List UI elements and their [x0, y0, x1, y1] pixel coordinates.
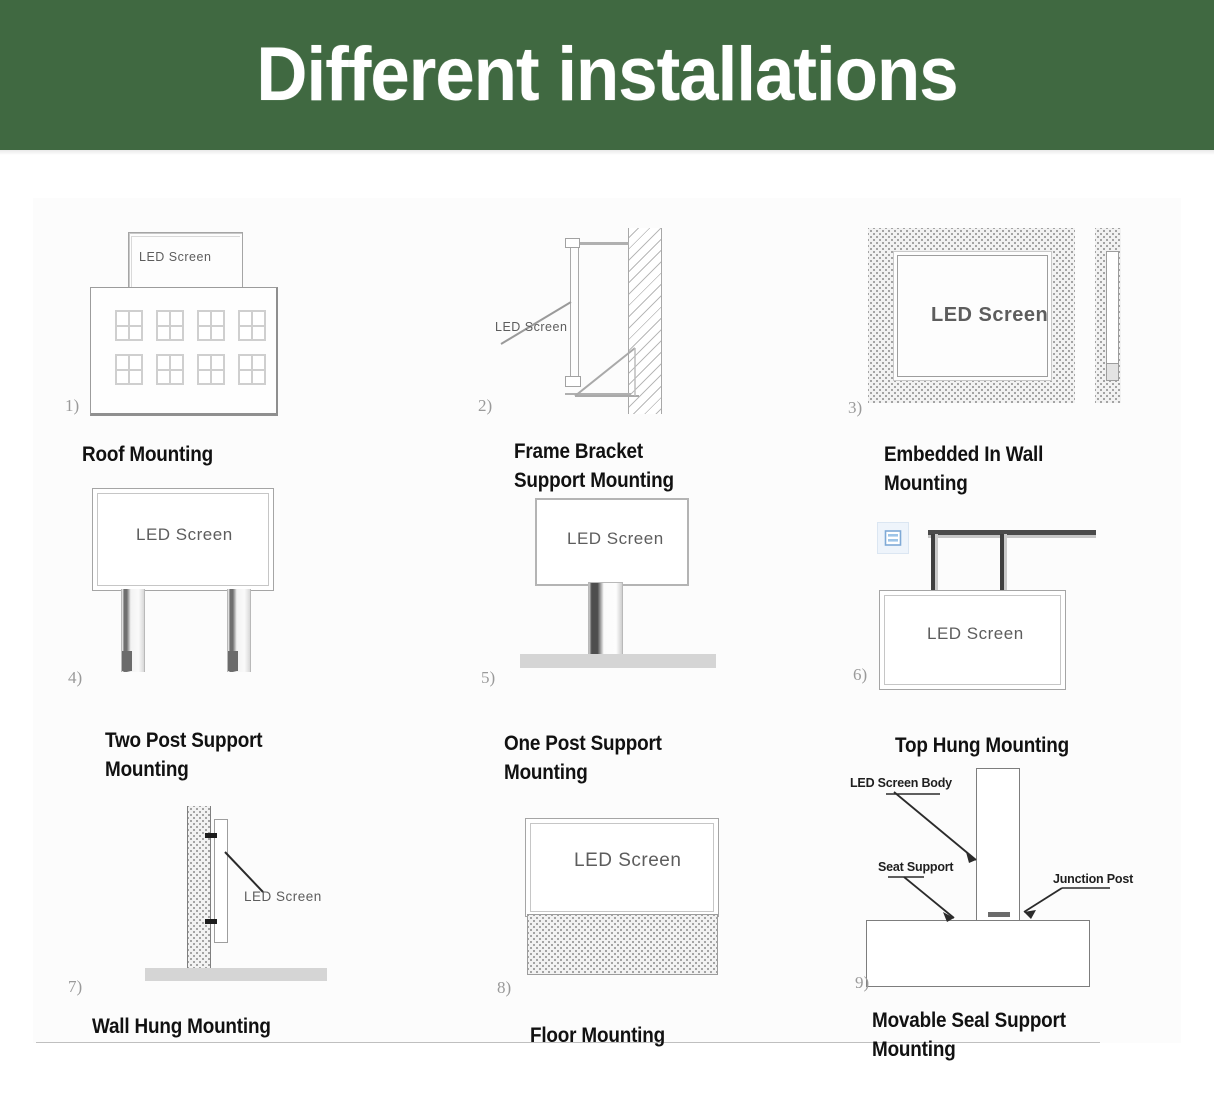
caption-floor-mounting: Floor Mounting [530, 1021, 827, 1050]
building-window [197, 354, 225, 385]
led-screen-panel: LED Screen [128, 232, 243, 290]
led-screen-label: LED Screen [136, 525, 233, 545]
figure-number-7: 7) [68, 977, 82, 997]
building-window [238, 310, 266, 341]
led-screen-panel: LED Screen [879, 590, 1066, 690]
header-banner: Different installations [0, 0, 1214, 150]
image-placeholder-icon [877, 522, 909, 554]
ground-slab [520, 654, 716, 668]
led-screen-panel: LED Screen [535, 498, 689, 586]
figure-number-8: 8) [497, 978, 511, 998]
caption-top-hung-mounting: Top Hung Mounting [895, 731, 1192, 760]
hanging-rod-left-highlight [935, 534, 938, 592]
building-window [115, 354, 143, 385]
building-window [197, 310, 225, 341]
ground-slab [145, 968, 327, 981]
figure-wall-hung-mounting: LED Screen [145, 806, 375, 986]
page-title: Different installations [256, 37, 957, 113]
side-profile-slot [1106, 251, 1119, 381]
annotation-junction-post: Junction Post [1053, 872, 1133, 886]
led-screen-label: LED Screen [567, 529, 664, 549]
support-post-left-foot [122, 651, 132, 671]
annotation-led-screen-body: LED Screen Body [850, 776, 952, 790]
figure-embedded-in-wall-mounting: LED Screen [868, 228, 1138, 408]
led-screen-label: LED Screen [931, 304, 1048, 327]
figure-floor-mounting: LED Screen [525, 818, 735, 988]
support-post-center [588, 582, 623, 658]
floor-base-block [527, 914, 718, 975]
figure-movable-seal-support-mounting: LED Screen Body Seat Support Junction Po… [848, 760, 1158, 990]
led-screen-label: LED Screen [139, 250, 211, 264]
figure-number-1: 1) [65, 396, 79, 416]
caption-embedded-in-wall-mounting: Embedded In Wall Mounting [884, 440, 1181, 498]
figure-number-2: 2) [478, 396, 492, 416]
support-post-right-foot [228, 651, 238, 671]
ceiling-beam-shadow [928, 535, 1096, 538]
led-screen-label: LED Screen [244, 889, 322, 904]
figure-number-3: 3) [848, 398, 862, 418]
wall-side-profile [1095, 228, 1121, 403]
wall-bracket-bottom [205, 919, 217, 924]
figure-number-9: 9) [855, 973, 869, 993]
hanging-rod-right-highlight [1004, 534, 1007, 592]
screen-cavity: LED Screen [897, 255, 1048, 377]
figure-two-post-support-mounting: LED Screen [92, 488, 282, 673]
figure-roof-mounting: LED Screen [90, 232, 290, 414]
building-body [90, 287, 278, 416]
stippled-wall-frame: LED Screen [868, 228, 1075, 403]
image-placeholder-glyph [884, 529, 902, 547]
figure-frame-bracket-support-mounting: LED Screen [495, 228, 675, 418]
figure-number-5: 5) [481, 668, 495, 688]
building-window [238, 354, 266, 385]
building-window [156, 354, 184, 385]
annotation-seat-support: Seat Support [878, 860, 953, 874]
led-screen-label: LED Screen [927, 624, 1024, 644]
figure-number-4: 4) [68, 668, 82, 688]
caption-movable-seal-support-mounting: Movable Seal Support Mounting [872, 1006, 1178, 1064]
led-screen-label: LED Screen [574, 850, 681, 872]
bracket-cap-top [565, 238, 580, 248]
side-profile-foot [1106, 363, 1119, 381]
building-window [156, 310, 184, 341]
caption-two-post-support-mounting: Two Post Support Mounting [105, 726, 393, 784]
stippled-wall [187, 806, 211, 970]
figure-top-hung-mounting: LED Screen [876, 520, 1096, 695]
caption-frame-bracket-support-mounting: Frame Bracket Support Mounting [514, 437, 802, 495]
figure-number-6: 6) [853, 665, 867, 685]
figure-one-post-support-mounting: LED Screen [520, 498, 720, 678]
building-window [115, 310, 143, 341]
caption-one-post-support-mounting: One Post Support Mounting [504, 729, 792, 787]
caption-roof-mounting: Roof Mounting [82, 440, 352, 469]
led-screen-panel: LED Screen [525, 818, 719, 917]
wall-bracket-top [205, 833, 217, 838]
caption-wall-hung-mounting: Wall Hung Mounting [92, 1012, 389, 1041]
diagonal-brace-icon [573, 346, 641, 396]
header-underline-divider [0, 150, 1214, 155]
led-screen-panel: LED Screen [92, 488, 274, 591]
led-screen-label: LED Screen [495, 320, 567, 334]
